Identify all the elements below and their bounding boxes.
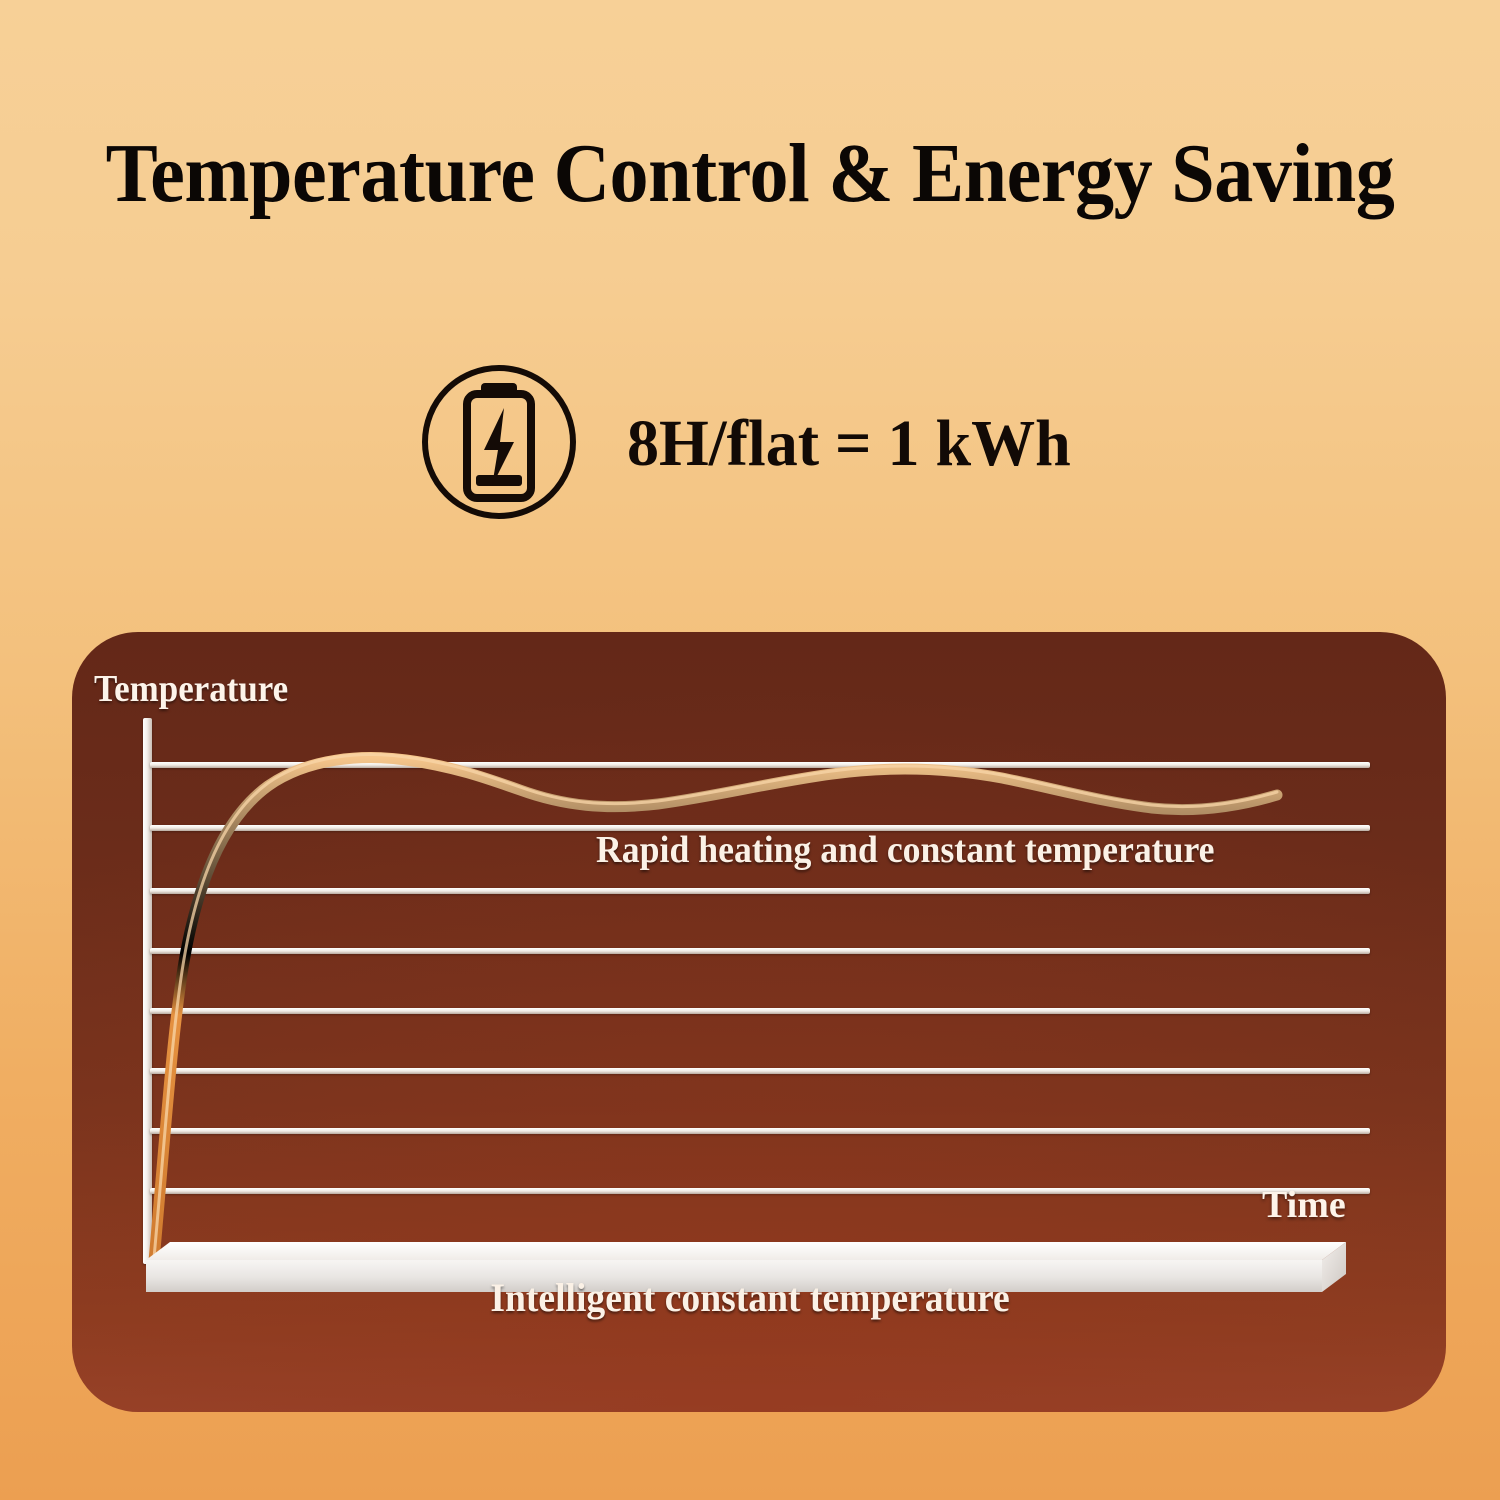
x-axis-label: Time — [1262, 1184, 1346, 1226]
y-axis-label: Temperature — [94, 668, 288, 710]
gridline — [150, 1068, 1370, 1074]
gridline — [150, 1128, 1370, 1134]
gridline — [150, 948, 1370, 954]
panel-caption: Intelligent constant temperature — [45, 1274, 1455, 1322]
poster-canvas: Temperature Control & Energy Saving 8H/f… — [0, 0, 1500, 1500]
gridline — [150, 1188, 1370, 1194]
chart-annotation: Rapid heating and constant temperature — [596, 828, 1215, 872]
energy-callout: 8H/flat = 1 kWh — [0, 352, 1500, 532]
energy-value-label: 8H/flat = 1 kWh — [627, 408, 1071, 480]
gridline — [150, 762, 1370, 768]
battery-charging-icon — [415, 358, 583, 526]
y-axis-line — [143, 718, 152, 1264]
page-title: Temperature Control & Energy Saving — [53, 122, 1448, 226]
gridline — [150, 1008, 1370, 1014]
gridline — [150, 888, 1370, 894]
